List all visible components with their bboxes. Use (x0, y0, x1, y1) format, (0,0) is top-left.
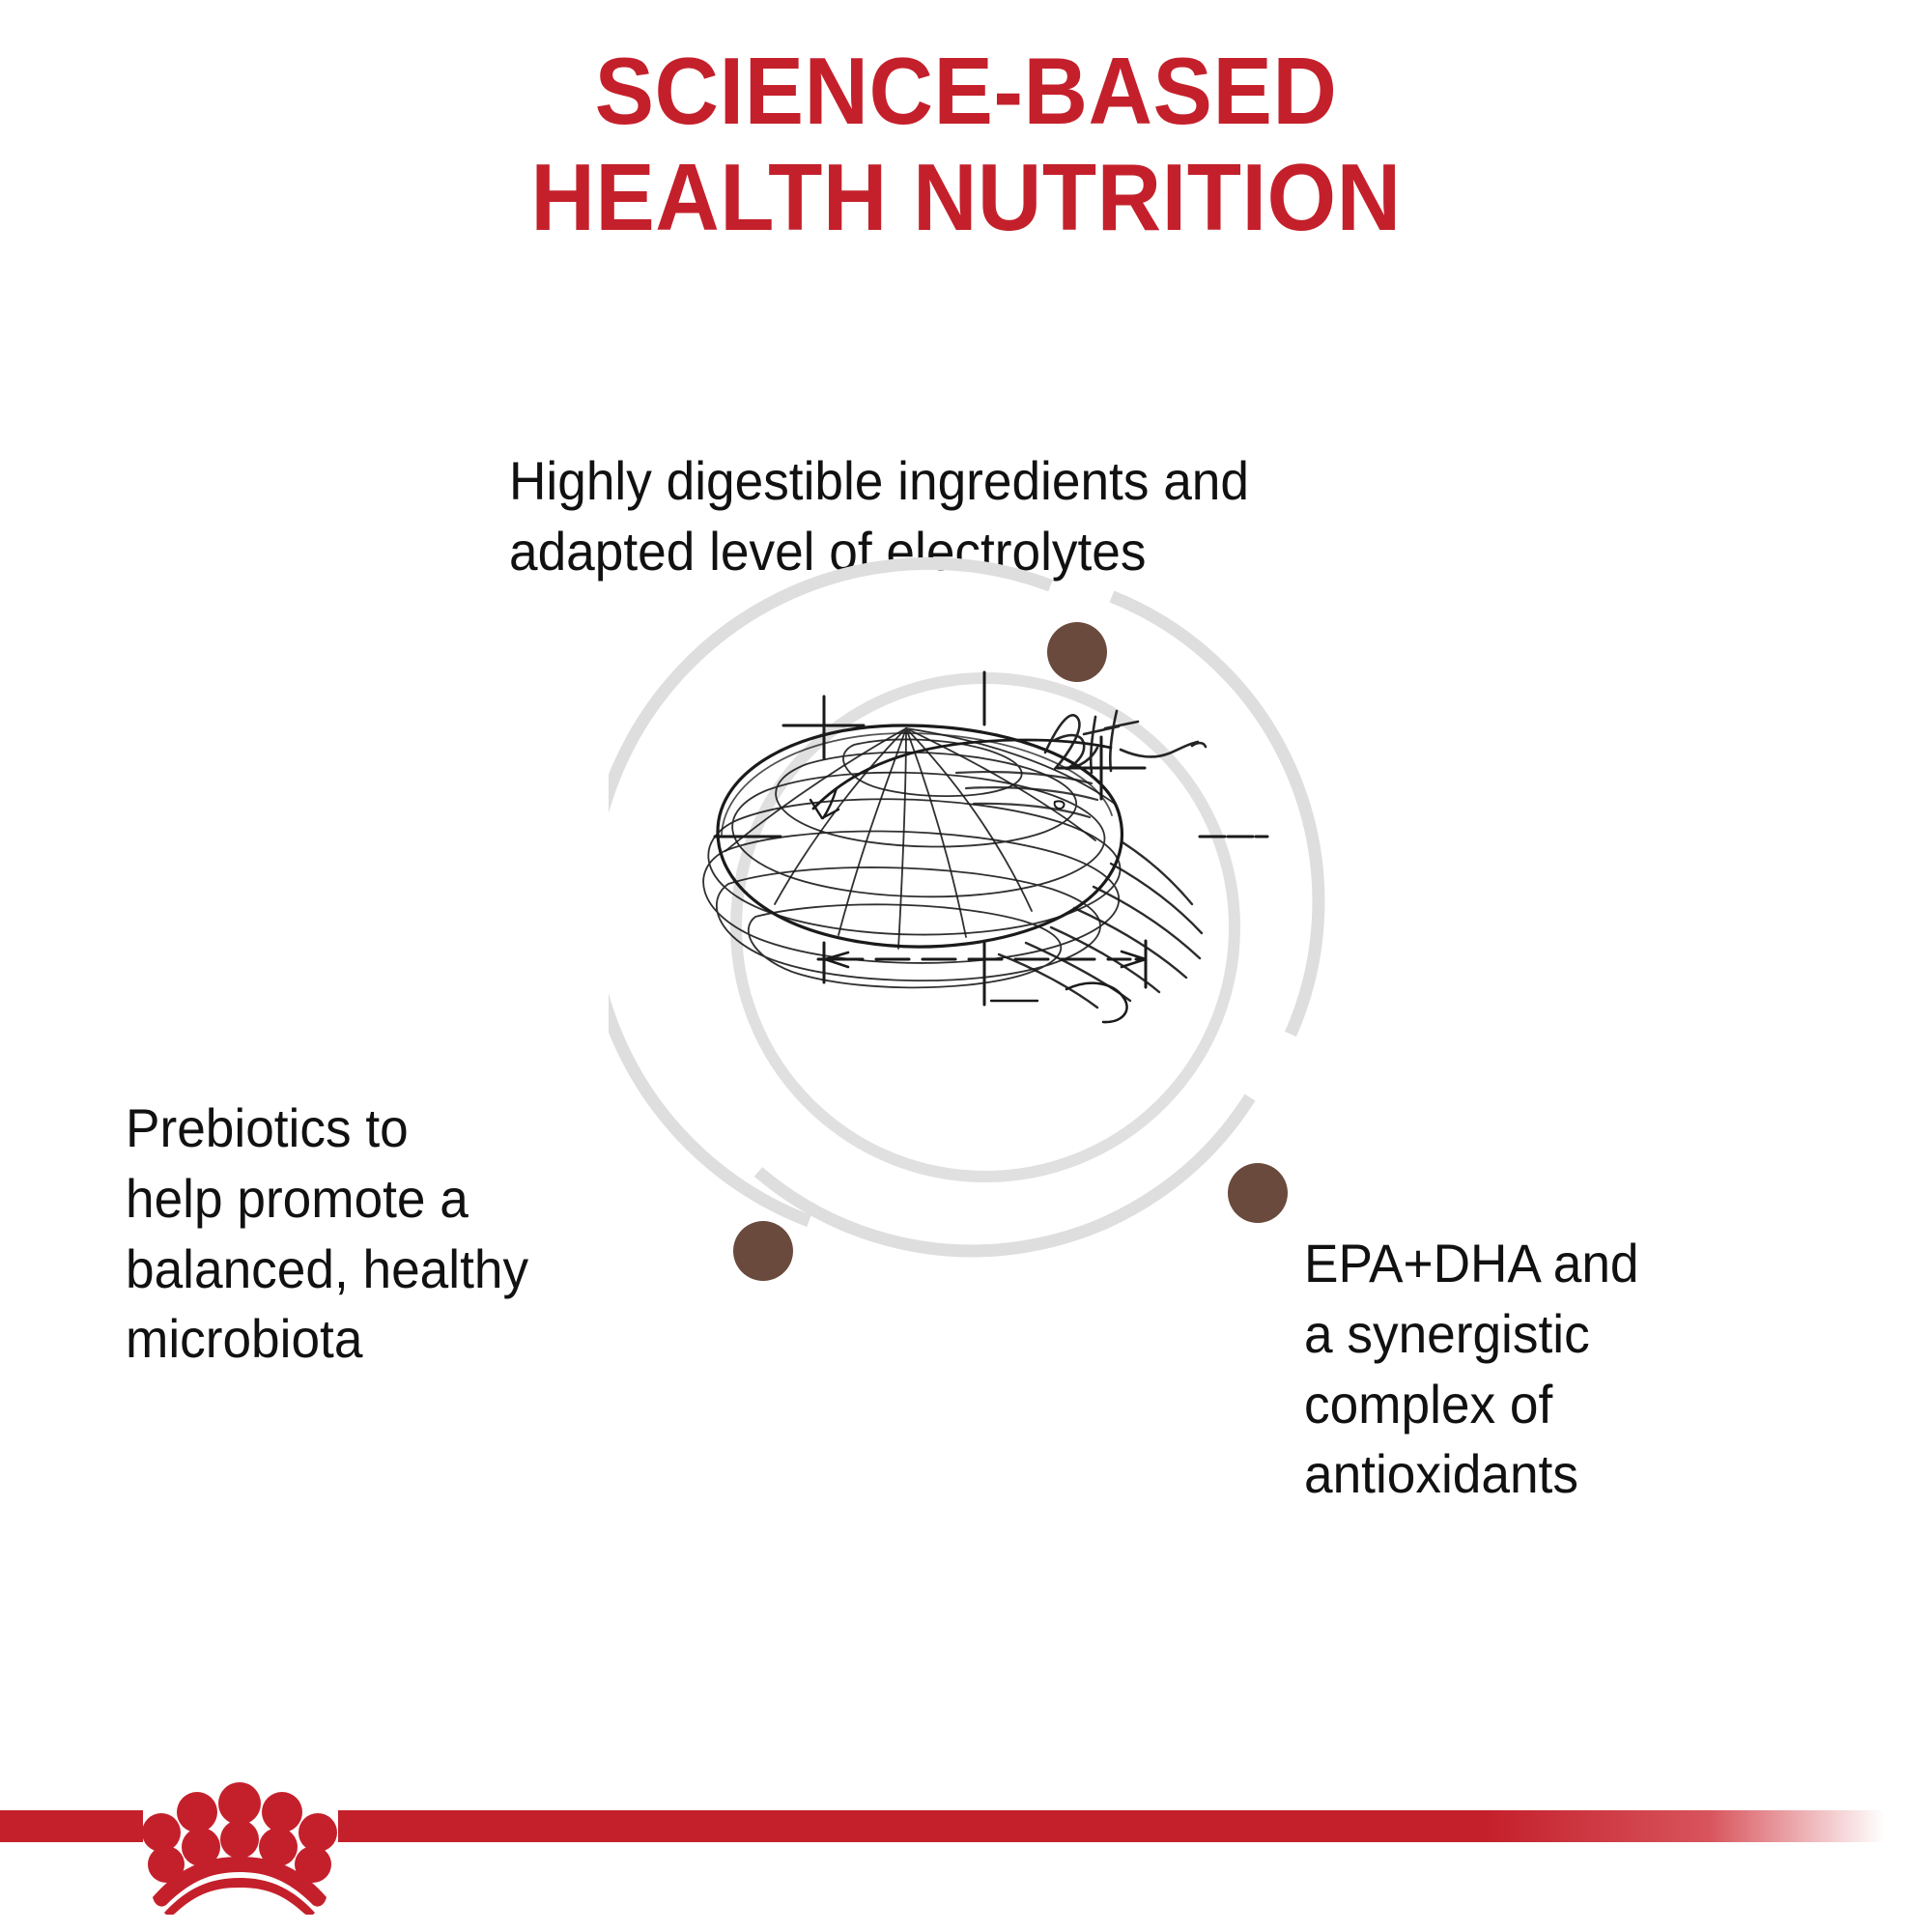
kibble-technical-sketch-icon (703, 672, 1267, 1022)
footer-rule-right (338, 1810, 1932, 1842)
benefit-label-prebiotics: Prebiotics to help promote a balanced, h… (126, 1094, 603, 1375)
inner-circle-icon (736, 678, 1235, 1177)
page-title: SCIENCE-BASED HEALTH NUTRITION (0, 39, 1932, 251)
kibble-diagram (609, 551, 1362, 1304)
footer-rule-left (0, 1810, 143, 1842)
outer-segmented-ring-icon (609, 563, 1319, 1251)
page-title-line-2: HEALTH NUTRITION (58, 145, 1874, 251)
benefit-label-epa-dha: EPA+DHA and a synergistic complex of ant… (1304, 1229, 1736, 1510)
page-title-line-1: SCIENCE-BASED (58, 39, 1874, 145)
royal-canin-crown-icon (135, 1774, 344, 1915)
